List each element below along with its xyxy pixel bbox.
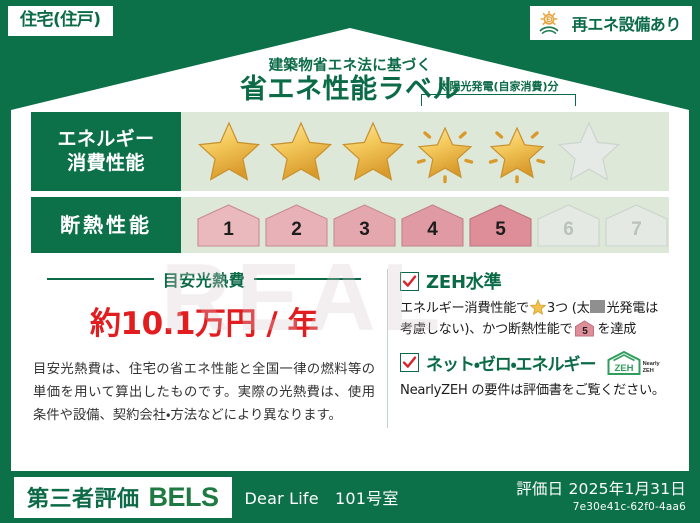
sun-renewable-icon <box>538 10 565 35</box>
zeh-logo-line2: ZEH <box>643 368 654 374</box>
utility-cost-heading: 目安光熱費 <box>31 267 377 291</box>
insulation-grade-5: 5 <box>467 203 534 248</box>
zeh-logo-caption: Nearly ZEH <box>643 361 660 375</box>
star-filled-3 <box>339 119 407 185</box>
insulation-grades-container: 1 2 3 4 5 <box>181 197 670 253</box>
insulation-grade-4: 4 <box>399 203 466 248</box>
zeh-desc-star-count: 3つ (太 <box>547 301 590 316</box>
utility-cost-column: 目安光熱費 約10.1万円 / 年 目安光熱費は、住宅の省エネ性能と全国一律の燃… <box>31 267 381 428</box>
insulation-grade-2: 2 <box>263 203 330 248</box>
zeh-nearly-logo: ZEH Nearly ZEH <box>606 350 660 376</box>
insulation-grade-7: 7 <box>603 203 670 248</box>
energy-performance-label: エネルギー 消費性能 <box>31 112 181 191</box>
column-divider <box>387 269 388 428</box>
insulation-grade-1: 1 <box>195 203 262 248</box>
certification-column: ZEH水準 エネルギー消費性能で3つ (太光発電は考慮しない)、かつ断熱性能で5… <box>400 267 669 428</box>
insulation-grade-number: 1 <box>195 219 262 241</box>
evaluation-date: 評価日 2025年1月31日 <box>516 480 686 499</box>
energy-performance-row: エネルギー 消費性能 太陽光発電(自家消費)分 <box>31 112 669 191</box>
zeh-level-checkbox[interactable] <box>400 272 419 291</box>
redacted-text <box>590 300 605 313</box>
zeh-level-block: ZEH水準 エネルギー消費性能で3つ (太光発電は考慮しない)、かつ断熱性能で5… <box>400 268 669 341</box>
zeh-level-heading: ZEH水準 <box>400 268 669 294</box>
insulation-performance-label: 断熱性能 <box>31 197 181 253</box>
inline-house-grade-number: 5 <box>574 324 595 340</box>
footer-meta: 評価日 2025年1月31日 7e30e41c-62f0-4aa6 <box>516 480 686 515</box>
panel-content: REAL エネルギー 消費性能 太陽光発電(自家消費)分 <box>11 28 689 471</box>
solar-annotation-bracket <box>421 94 576 106</box>
third-party-label: 第三者評価 <box>27 481 140 513</box>
check-icon <box>402 355 417 370</box>
svg-text:ZEH: ZEH <box>614 363 633 374</box>
bels-certification-badge: 第三者評価 BELS <box>14 477 232 518</box>
insulation-grade-number: 6 <box>535 219 602 241</box>
zeh-level-title: ZEH水準 <box>426 268 501 294</box>
document-id: 7e30e41c-62f0-4aa6 <box>516 501 686 514</box>
inline-star-icon <box>530 299 546 315</box>
zeh-desc-part1: エネルギー消費性能で <box>400 301 529 316</box>
utility-cost-note: 目安光熱費は、住宅の省エネ性能と全国一律の燃料等の単価を用いて算出したものです。… <box>31 359 377 428</box>
star-filled-2 <box>267 119 335 185</box>
heading-rule-left <box>47 278 154 280</box>
star-filled-1 <box>195 119 263 185</box>
insulation-grade-3: 3 <box>331 203 398 248</box>
insulation-grade-number: 4 <box>399 219 466 241</box>
energy-performance-label-card: 住宅(住戸) 再エネ設備あり 建築物省エ <box>0 0 700 523</box>
footer: 第三者評価 BELS Dear Life 101号室 評価日 2025年1月31… <box>0 471 700 523</box>
insulation-grade-6: 6 <box>535 203 602 248</box>
bels-label: BELS <box>149 482 219 513</box>
check-icon <box>402 274 417 289</box>
energy-label-line1: エネルギー <box>57 128 154 151</box>
category-tag: 住宅(住戸) <box>8 6 113 36</box>
renewable-badge-label: 再エネ設備あり <box>572 11 681 35</box>
insulation-grade-number: 2 <box>263 219 330 241</box>
insulation-grade-number: 5 <box>467 219 534 241</box>
insulation-grade-number: 3 <box>331 219 398 241</box>
insulation-grade-list: 1 2 3 4 5 <box>195 203 670 248</box>
inline-house-grade-icon: 5 <box>574 320 595 337</box>
energy-stars-container: 太陽光発電(自家消費)分 <box>181 112 669 191</box>
heading-rule-right <box>254 278 361 280</box>
building-name: Dear Life 101号室 <box>245 485 399 509</box>
utility-cost-value: 約10.1万円 / 年 <box>31 298 377 343</box>
utility-cost-title: 目安光熱費 <box>163 267 246 291</box>
solar-annotation: 太陽光発電(自家消費)分 <box>421 81 576 106</box>
zeh-logo-line1: Nearly <box>643 361 660 367</box>
star-empty-6 <box>555 119 623 185</box>
lower-section: 目安光熱費 約10.1万円 / 年 目安光熱費は、住宅の省エネ性能と全国一律の燃… <box>31 267 669 428</box>
star-filled-solar-4 <box>411 119 479 185</box>
net-zero-energy-checkbox[interactable] <box>400 353 419 372</box>
zeh-level-description: エネルギー消費性能で3つ (太光発電は考慮しない)、かつ断熱性能で5を達成 <box>400 298 669 341</box>
insulation-grade-number: 7 <box>603 219 670 241</box>
net-zero-energy-title: ネット・ゼロ・エネルギー <box>426 350 596 375</box>
net-zero-energy-heading: ネット・ゼロ・エネルギー ZEH Nearly ZEH <box>400 350 669 376</box>
energy-label-line2: 消費性能 <box>67 152 145 175</box>
net-zero-energy-description: NearlyZEH の要件は評価書をご覧ください。 <box>400 380 669 401</box>
zeh-desc-part3: を達成 <box>597 322 636 337</box>
star-filled-solar-5 <box>483 119 551 185</box>
renewable-equipment-badge: 再エネ設備あり <box>530 6 692 40</box>
solar-annotation-label: 太陽光発電(自家消費)分 <box>421 81 576 92</box>
zeh-house-icon: ZEH <box>606 350 642 376</box>
net-zero-energy-block: ネット・ゼロ・エネルギー ZEH Nearly ZEH <box>400 350 669 401</box>
insulation-performance-row: 断熱性能 1 2 3 <box>31 197 669 253</box>
star-rating <box>195 119 623 185</box>
